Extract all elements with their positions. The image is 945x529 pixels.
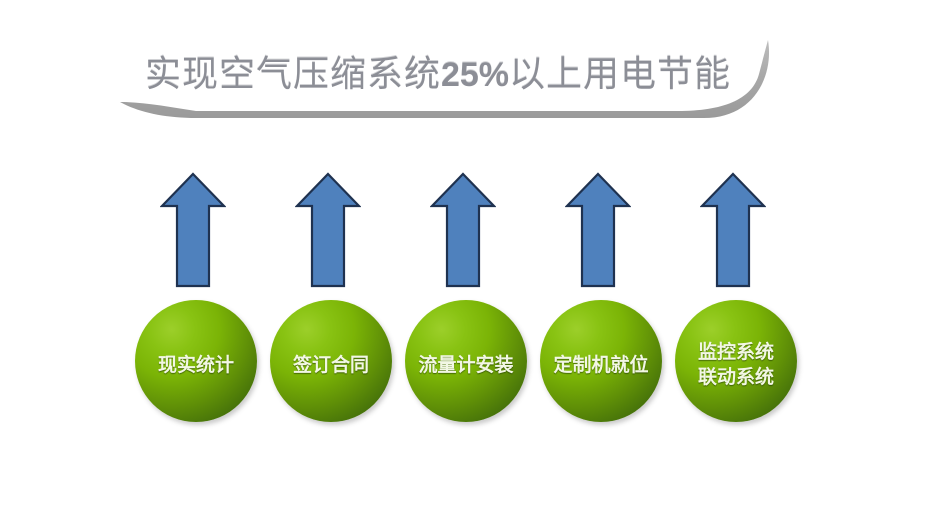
page-title: 实现空气压缩系统25%以上用电节能 <box>118 38 758 110</box>
node-label-line: 现实统计 <box>158 353 234 378</box>
arrow-up-icon <box>700 170 766 290</box>
title-suffix: 以上用电节能 <box>509 54 731 94</box>
process-node-4[interactable]: 定制机就位 <box>540 300 662 422</box>
arrow-up-icon-2 <box>295 170 361 290</box>
title-banner: 实现空气压缩系统25%以上用电节能 <box>118 38 788 138</box>
arrow-up-icon <box>295 170 361 290</box>
process-node-1[interactable]: 现实统计 <box>135 300 257 422</box>
process-node-5[interactable]: 监控系统 联动系统 <box>675 300 797 422</box>
arrow-up-icon-4 <box>565 170 631 290</box>
process-node-row: 现实统计 签订合同 流量计安装 定制机就位 监控系统 联动系统 <box>135 300 810 425</box>
process-node-3[interactable]: 流量计安装 <box>405 300 527 422</box>
arrow-up-icon <box>430 170 496 290</box>
node-label-line: 监控系统 <box>698 340 774 365</box>
slide-canvas: 实现空气压缩系统25%以上用电节能 <box>0 0 945 529</box>
node-label-line: 流量计安装 <box>418 353 513 378</box>
node-label-1: 现实统计 <box>121 300 271 422</box>
node-label-5: 监控系统 联动系统 <box>661 300 811 422</box>
arrow-up-icon-3 <box>430 170 496 290</box>
node-label-line: 定制机就位 <box>553 353 648 378</box>
node-label-line: 联动系统 <box>698 365 774 390</box>
node-label-4: 定制机就位 <box>526 300 676 422</box>
title-percent: 25% <box>441 56 509 94</box>
node-label-line: 签订合同 <box>293 353 369 378</box>
title-prefix: 实现空气压缩系统 <box>145 54 441 94</box>
arrow-up-icon-1 <box>160 170 226 290</box>
arrow-up-icon <box>160 170 226 290</box>
arrow-up-icon-5 <box>700 170 766 290</box>
arrow-up-icon <box>565 170 631 290</box>
node-label-3: 流量计安装 <box>391 300 541 422</box>
node-label-2: 签订合同 <box>256 300 406 422</box>
arrow-row <box>135 170 810 290</box>
process-node-2[interactable]: 签订合同 <box>270 300 392 422</box>
